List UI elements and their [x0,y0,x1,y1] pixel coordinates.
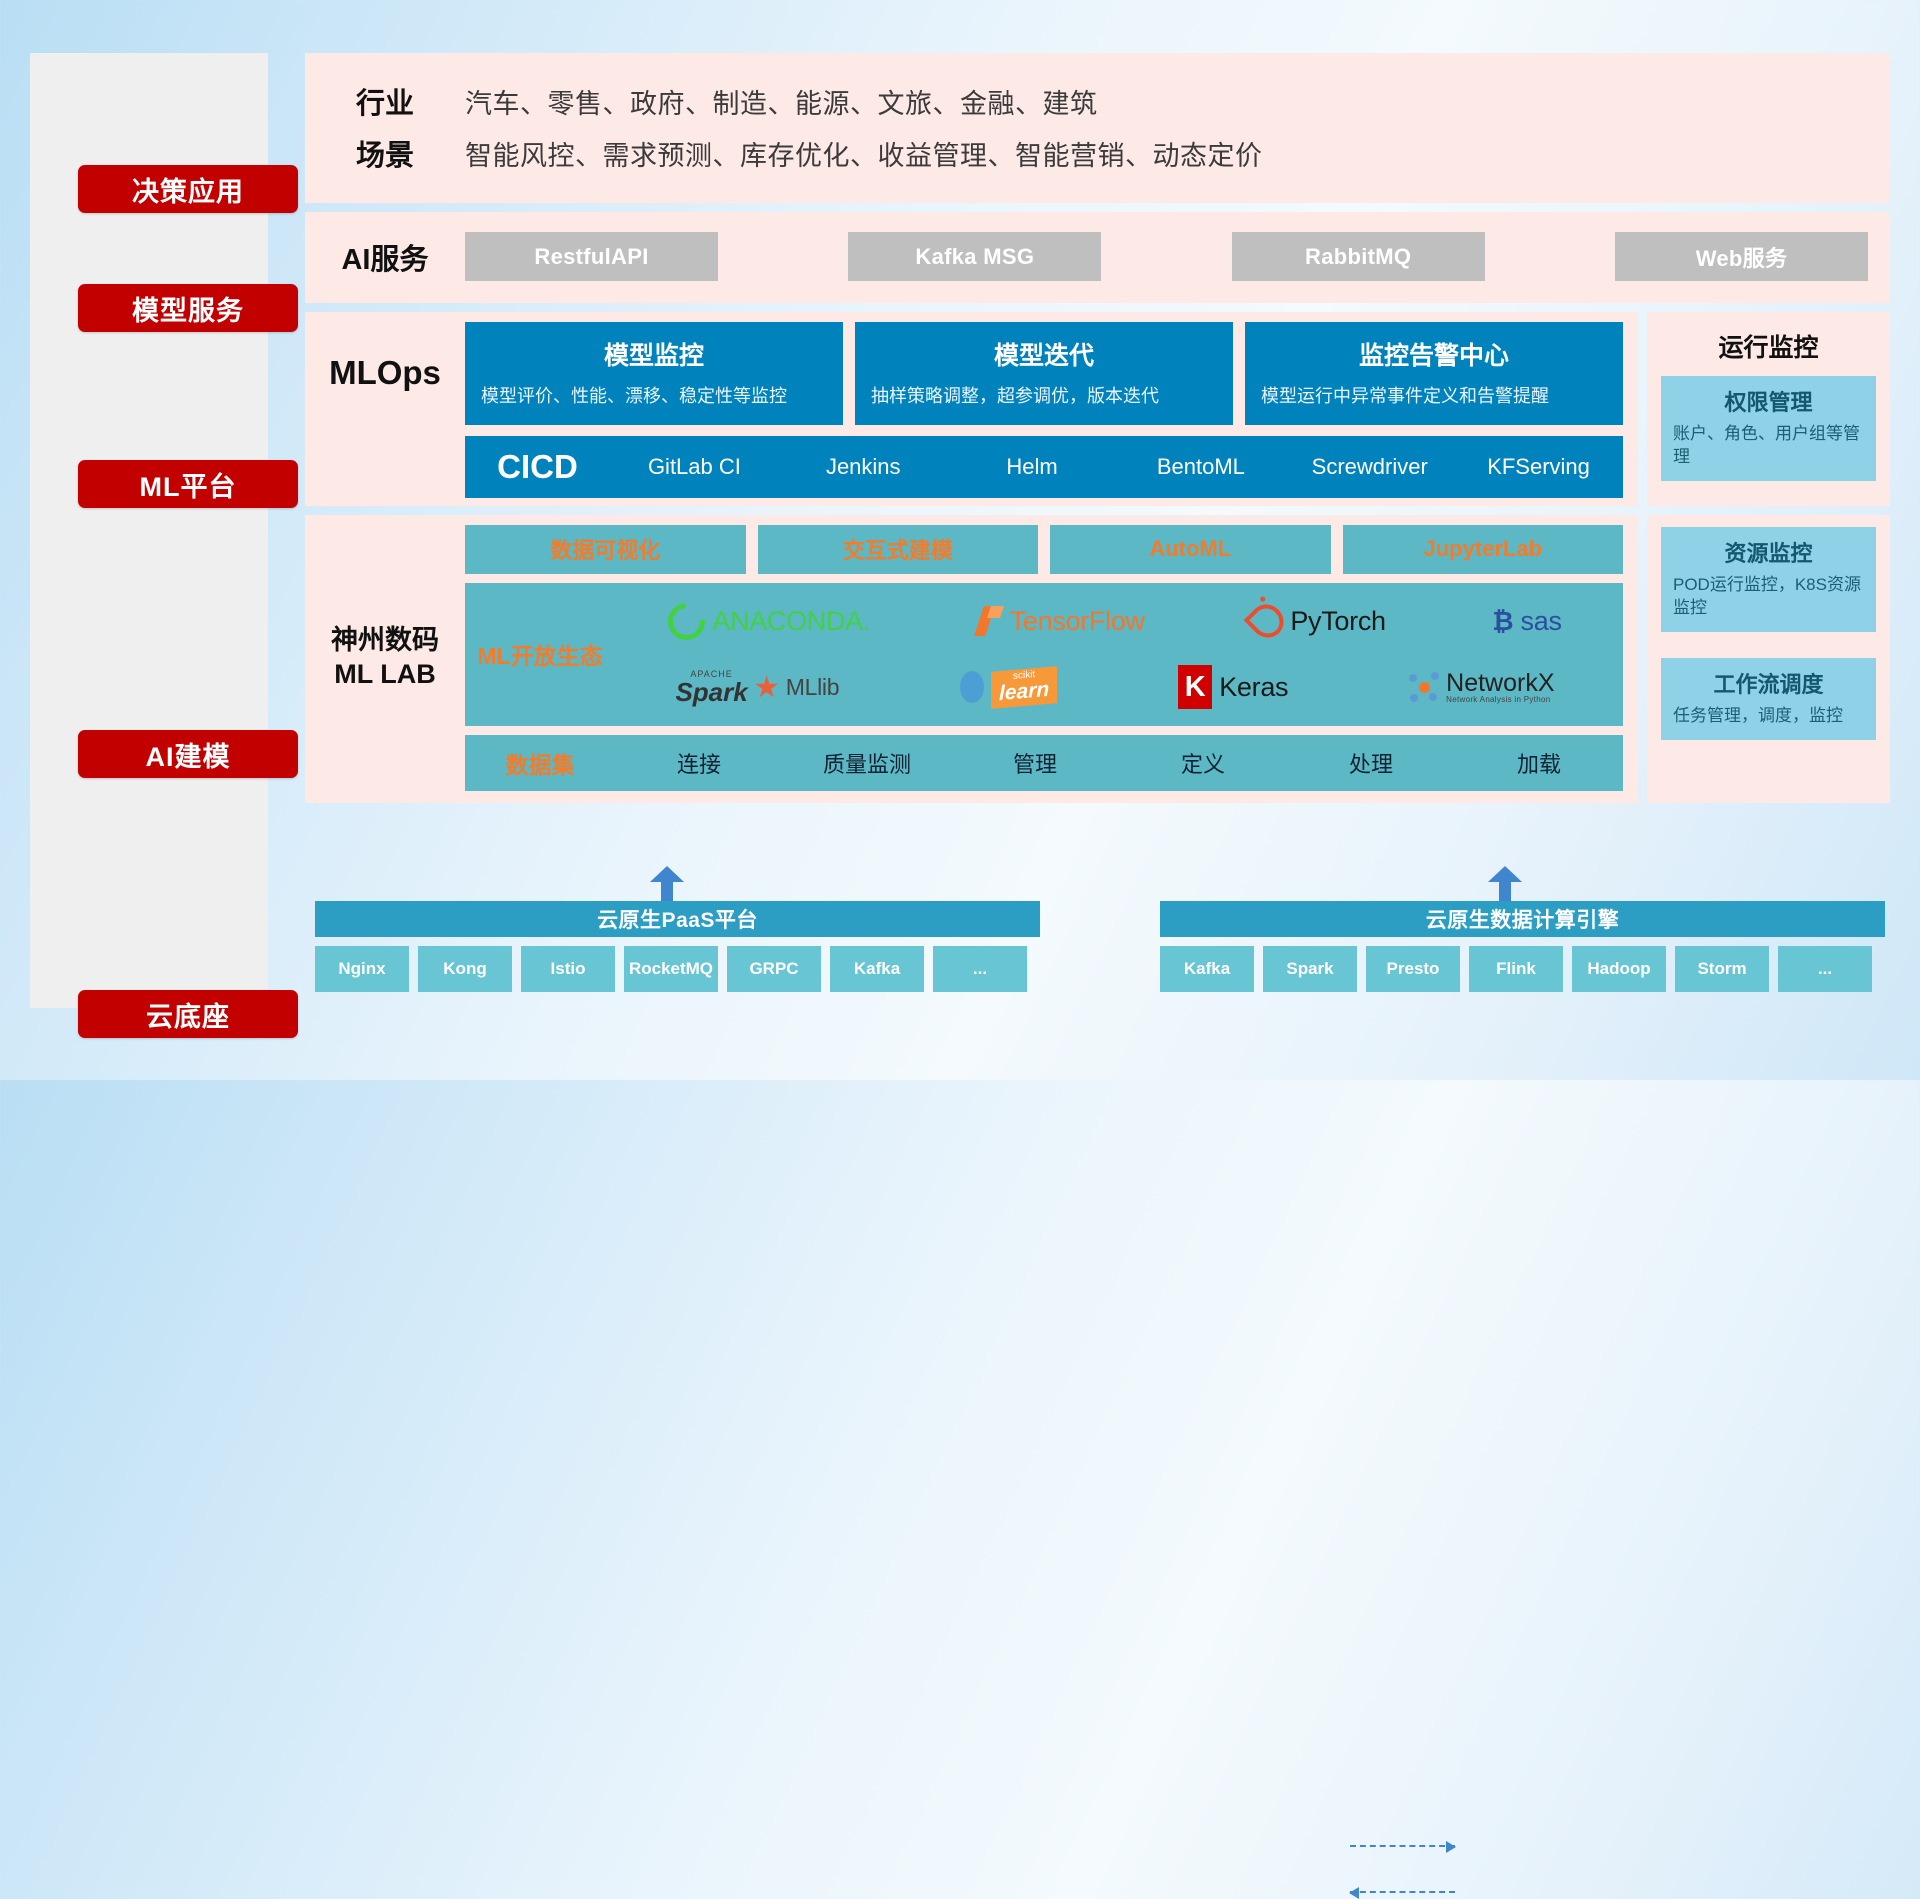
dataset-item[interactable]: 连接 [615,747,783,779]
ai-service-chip[interactable]: RabbitMQ [1232,232,1485,281]
ml-lab-body: 数据可视化 交互式建模 AutoML JupyterLab ML开放生态 [465,525,1638,791]
ml-ecosystem-panel: ML开放生态 ANACONDA. TensorFlow [465,583,1623,726]
ml-lab-key-line2: ML LAB [334,658,436,692]
ml-lab-tab-list: 数据可视化 交互式建模 AutoML JupyterLab [465,525,1623,574]
bidirectional-link [1350,1833,1455,1893]
engine-chip[interactable]: Hadoop [1572,946,1666,992]
runtime-monitor-title: 运行监控 [1661,328,1876,364]
mlops-card-title: 模型迭代 [871,336,1217,372]
rail-tag-cloud-base[interactable]: 云底座 [78,990,298,1038]
runtime-monitor-card-desc: 账户、角色、用户组等管理 [1673,423,1864,469]
ai-service-chip[interactable]: Web服务 [1615,232,1868,281]
ai-service-chip[interactable]: Kafka MSG [848,232,1101,281]
keras-k-icon: K [1178,665,1212,709]
ml-ecosystem-logo-row: ANACONDA. TensorFlow PyTorch [615,590,1615,652]
keras-label: Keras [1219,672,1288,703]
networkx-tagline: Network Analysis in Python [1446,696,1554,704]
spark-wordmark: APACHE Spark [675,670,747,705]
tensorflow-logo: TensorFlow [977,606,1145,637]
runtime-monitor-card[interactable]: 资源监控 POD运行监控，K8S资源监控 [1661,527,1876,632]
runtime-monitor-card-desc: POD运行监控，K8S资源监控 [1673,574,1864,620]
mlops-card-desc: 模型运行中异常事件定义和告警提醒 [1261,384,1607,409]
dataset-item[interactable]: 定义 [1119,747,1287,779]
paas-chip[interactable]: GRPC [727,946,821,992]
tab-automl[interactable]: AutoML [1050,525,1331,574]
spark-star-icon [755,675,779,699]
runtime-monitor-card[interactable]: 工作流调度 任务管理，调度，监控 [1661,658,1876,740]
paas-chip[interactable]: Kafka [830,946,924,992]
paas-chip[interactable]: RocketMQ [624,946,718,992]
networkx-logo: NetworkX Network Analysis in Python [1409,671,1554,704]
cicd-item[interactable]: Helm [948,452,1117,481]
cicd-item[interactable]: Screwdriver [1285,452,1454,481]
keras-logo: K Keras [1178,665,1288,709]
scikit-learn-logo: scikit learn [960,669,1057,706]
cicd-item[interactable]: GitLab CI [610,452,779,481]
ml-lab-key: 神州数码 ML LAB [305,525,465,791]
ml-lab-row: 神州数码 ML LAB 数据可视化 交互式建模 AutoML JupyterLa… [305,525,1638,791]
anaconda-label: ANACONDA. [712,606,870,637]
dash-arrow-left-icon [1350,1891,1455,1893]
runtime-monitor-panel: 运行监控 权限管理 账户、角色、用户组等管理 [1647,312,1890,506]
scenario-value: 智能风控、需求预测、库存优化、收益管理、智能营销、动态定价 [465,134,1263,173]
engine-chip[interactable]: Kafka [1160,946,1254,992]
rail-tag-label: 模型服务 [132,289,244,328]
engine-chip[interactable]: Storm [1675,946,1769,992]
tensorflow-label: TensorFlow [1010,606,1145,637]
runtime-monitor-card-title: 权限管理 [1673,385,1864,417]
dataset-label: 数据集 [465,746,615,780]
networkx-wordmark: NetworkX Network Analysis in Python [1446,671,1554,704]
cicd-item-list: GitLab CI Jenkins Helm BentoML Screwdriv… [610,452,1623,481]
mlops-row: MLOps 模型监控 模型评价、性能、漂移、稳定性等监控 模型迭代 抽样策略调整… [305,322,1638,425]
engine-chip[interactable]: Flink [1469,946,1563,992]
rail-tag-label: ML平台 [140,465,237,504]
dataset-item-list: 连接 质量监测 管理 定义 处理 加载 [615,747,1623,779]
engine-chip-list: Kafka Spark Presto Flink Hadoop Storm ..… [1160,946,1885,992]
spark-mllib-logo: APACHE Spark MLlib [675,670,839,705]
paas-chip[interactable]: Nginx [315,946,409,992]
layer-rail: 决策应用 模型服务 ML平台 AI建模 云底座 [30,53,268,1008]
rail-tag-ai-modeling[interactable]: AI建模 [78,730,298,778]
ml-platform-band: MLOps 模型监控 模型评价、性能、漂移、稳定性等监控 模型迭代 抽样策略调整… [305,312,1890,506]
mlops-card-desc: 抽样策略调整，超参调优，版本迭代 [871,384,1217,409]
rail-tag-model-service[interactable]: 模型服务 [78,284,298,332]
sas-swirl-icon: ₿ [1492,606,1513,637]
ml-ecosystem-logo-row: APACHE Spark MLlib [615,656,1615,718]
dataset-item[interactable]: 加载 [1455,747,1623,779]
engine-chip[interactable]: Spark [1263,946,1357,992]
cicd-item[interactable]: KFServing [1454,452,1623,481]
up-arrow-paas-icon [650,866,684,902]
ml-ecosystem-logo-grid: ANACONDA. TensorFlow PyTorch [615,590,1623,718]
paas-chip[interactable]: ... [933,946,1027,992]
ai-service-chip[interactable]: RestfulAPI [465,232,718,281]
pytorch-flame-icon [1244,598,1291,645]
industry-key: 行业 [305,80,465,122]
tab-data-visualization[interactable]: 数据可视化 [465,525,746,574]
mlops-card[interactable]: 监控告警中心 模型运行中异常事件定义和告警提醒 [1245,322,1623,425]
mlops-panel: MLOps 模型监控 模型评价、性能、漂移、稳定性等监控 模型迭代 抽样策略调整… [305,312,1638,506]
dataset-item[interactable]: 处理 [1287,747,1455,779]
engine-group: 云原生数据计算引擎 Kafka Spark Presto Flink Hadoo… [1160,901,1885,992]
ml-lab-panel: 神州数码 ML LAB 数据可视化 交互式建模 AutoML JupyterLa… [305,515,1638,803]
anaconda-ring-icon [661,595,713,647]
rail-tag-label: 云底座 [146,995,230,1034]
ai-service-key: AI服务 [305,236,465,278]
networkx-label: NetworkX [1446,671,1554,696]
cloud-base-band: 云原生PaaS平台 Nginx Kong Istio RocketMQ GRPC… [305,893,1890,1023]
paas-group: 云原生PaaS平台 Nginx Kong Istio RocketMQ GRPC… [315,901,1040,992]
sas-label: sas [1521,606,1562,637]
sas-logo: ₿ sas [1492,606,1561,637]
mlops-card-desc: 模型评价、性能、漂移、稳定性等监控 [481,384,827,409]
pytorch-label: PyTorch [1290,606,1385,637]
mlops-card[interactable]: 模型监控 模型评价、性能、漂移、稳定性等监控 [465,322,843,425]
ml-ecosystem-label: ML开放生态 [465,637,615,671]
decision-app-band: 行业 汽车、零售、政府、制造、能源、文旅、金融、建筑 场景 智能风控、需求预测、… [305,53,1890,203]
rail-tag-label: 决策应用 [132,170,244,209]
cicd-item[interactable]: Jenkins [779,452,948,481]
engine-chip[interactable]: Presto [1366,946,1460,992]
rail-tag-label: AI建模 [146,735,231,774]
runtime-monitor-panel-lower: 资源监控 POD运行监控，K8S资源监控 工作流调度 任务管理，调度，监控 [1647,515,1890,803]
diagram-canvas: 决策应用 模型服务 ML平台 AI建模 云底座 行业 汽车、零售、政府、制造、能… [0,0,1920,1080]
industry-value: 汽车、零售、政府、制造、能源、文旅、金融、建筑 [465,82,1098,121]
ai-service-chip-list: RestfulAPI Kafka MSG RabbitMQ Web服务 [465,232,1890,281]
mlops-card-list: 模型监控 模型评价、性能、漂移、稳定性等监控 模型迭代 抽样策略调整，超参调优，… [465,322,1638,425]
ai-modeling-band: 神州数码 ML LAB 数据可视化 交互式建模 AutoML JupyterLa… [305,515,1890,803]
dataset-row: 数据集 连接 质量监测 管理 定义 处理 加载 [465,735,1623,791]
pytorch-logo: PyTorch [1251,604,1385,638]
main-stack: 行业 汽车、零售、政府、制造、能源、文旅、金融、建筑 场景 智能风控、需求预测、… [305,53,1890,803]
paas-chip[interactable]: Kong [418,946,512,992]
scikit-orange-block-icon: scikit learn [991,666,1057,709]
runtime-monitor-card-desc: 任务管理，调度，监控 [1673,705,1864,728]
runtime-monitor-card-title: 资源监控 [1673,536,1864,568]
rail-tag-ml-platform[interactable]: ML平台 [78,460,298,508]
anaconda-logo: ANACONDA. [668,603,870,640]
tab-interactive-modeling[interactable]: 交互式建模 [758,525,1039,574]
mlops-key: MLOps [305,322,465,425]
paas-chip[interactable]: Istio [521,946,615,992]
dataset-item[interactable]: 管理 [951,747,1119,779]
scikit-bottom-label: learn [999,679,1049,704]
engine-chip[interactable]: ... [1778,946,1872,992]
cicd-bar: CICD GitLab CI Jenkins Helm BentoML Scre… [465,436,1623,498]
cicd-title: CICD [465,448,610,486]
mlops-card[interactable]: 模型迭代 抽样策略调整，超参调优，版本迭代 [855,322,1233,425]
tensorflow-mark-icon [977,606,1003,636]
scenario-row: 场景 智能风控、需求预测、库存优化、收益管理、智能营销、动态定价 [305,127,1890,179]
industry-row: 行业 汽车、零售、政府、制造、能源、文旅、金融、建筑 [305,75,1890,127]
runtime-monitor-card-title: 工作流调度 [1673,667,1864,699]
tab-jupyterlab[interactable]: JupyterLab [1343,525,1624,574]
networkx-graph-icon [1409,672,1439,702]
paas-title-bar: 云原生PaaS平台 [315,901,1040,937]
mllib-label: MLlib [786,674,839,701]
paas-chip-list: Nginx Kong Istio RocketMQ GRPC Kafka ... [315,946,1040,992]
up-arrow-engine-icon [1488,866,1522,902]
mlops-card-title: 模型监控 [481,336,827,372]
cicd-item[interactable]: BentoML [1116,452,1285,481]
spark-name-label: Spark [675,679,747,705]
rail-tag-decision-app[interactable]: 决策应用 [78,165,298,213]
ai-service-band: AI服务 RestfulAPI Kafka MSG RabbitMQ Web服务 [305,212,1890,303]
runtime-monitor-card[interactable]: 权限管理 账户、角色、用户组等管理 [1661,376,1876,481]
engine-title-bar: 云原生数据计算引擎 [1160,901,1885,937]
scenario-key: 场景 [305,132,465,174]
ml-lab-key-line1: 神州数码 [331,624,439,658]
scikit-blue-blob-icon [960,671,984,703]
mlops-card-title: 监控告警中心 [1261,336,1607,372]
dataset-item[interactable]: 质量监测 [783,747,951,779]
dash-arrow-right-icon [1350,1845,1455,1847]
